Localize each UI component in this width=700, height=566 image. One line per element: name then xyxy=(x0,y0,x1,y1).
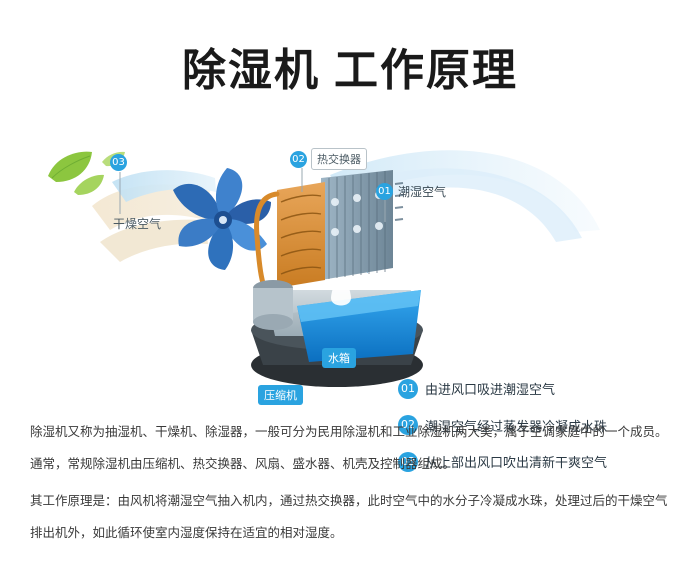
fan-blade-1 xyxy=(173,184,223,220)
humid-air-label: 潮湿空气 xyxy=(398,185,446,199)
dry-air-pin: 03 xyxy=(110,152,127,171)
leaf-icon-1 xyxy=(48,152,92,182)
legend-badge-1: 01 xyxy=(398,379,418,399)
infographic-page: 除湿机工作原理 xyxy=(0,0,700,566)
legend-item-1: 01由进风口吸进潮湿空气 xyxy=(398,378,607,399)
humid-air-leader-line xyxy=(381,200,395,226)
humid-air-pin: 01潮湿空气 xyxy=(376,181,446,200)
heat-exchanger-badge: 02 xyxy=(290,151,307,168)
description-paragraph-2: 通常，常规除湿机由压缩机、热交换器、风扇、盛水器、机壳及控制器组成。 xyxy=(30,452,670,475)
leaf-icon-2 xyxy=(74,175,104,195)
heat-exchanger-pin: 02热交换器 xyxy=(290,148,367,170)
dehumidifier-illustration: 压缩机 水箱 02热交换器 01潮湿空气 03 干燥空气 01由进风口吸进潮湿 xyxy=(0,120,700,400)
legend-text-1: 由进风口吸进潮湿空气 xyxy=(425,383,555,398)
title-part-1: 除湿机 xyxy=(182,45,320,96)
heat-exchanger-leader-line xyxy=(298,168,318,194)
description-paragraph-4: 排出机外，如此循环使室内湿度保持在适宜的相对湿度。 xyxy=(30,521,670,544)
dry-air-badge: 03 xyxy=(110,154,127,171)
water-tank-tag: 水箱 xyxy=(322,348,356,368)
title-part-2: 工作原理 xyxy=(334,45,518,96)
compressor-tag: 压缩机 xyxy=(258,385,303,405)
description-block: 除湿机又称为抽湿机、干燥机、除湿器，一般可分为民用除湿机和工业除湿机两大类，属于… xyxy=(30,420,670,554)
description-paragraph-3: 其工作原理是：由风机将潮湿空气抽入机内，通过热交换器，此时空气中的水分子冷凝成水… xyxy=(30,489,670,512)
page-title: 除湿机工作原理 xyxy=(0,34,700,98)
compressor-bottom xyxy=(253,314,293,330)
description-paragraph-1: 除湿机又称为抽湿机、干燥机、除湿器，一般可分为民用除湿机和工业除湿机两大类，属于… xyxy=(30,420,670,443)
humid-air-badge: 01 xyxy=(376,183,393,200)
heat-exchanger-label: 热交换器 xyxy=(311,148,367,170)
dry-air-leader-line xyxy=(116,172,130,218)
